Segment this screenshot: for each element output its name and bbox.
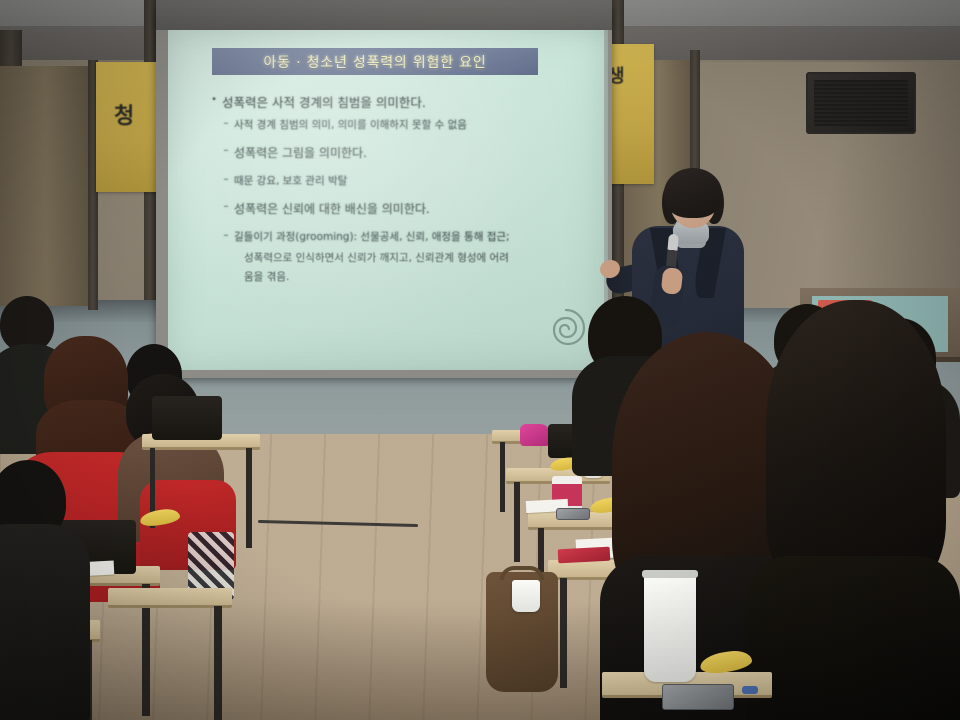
- attendee-right-foreground-hair: [766, 300, 946, 600]
- pen: [742, 686, 758, 694]
- slide-bullet: – 성폭력은 신뢰에 대한 배신을 의미한다.: [198, 200, 588, 217]
- smartphone: [662, 684, 734, 710]
- bullet-text: 사적 경계 침범의 의미, 의미를 이해하지 못할 수 없음: [234, 117, 588, 132]
- slide-bullet: – 때문 강요, 보호 관리 박탈: [198, 173, 588, 188]
- red-notebook: [558, 547, 611, 564]
- chair-back: [152, 396, 222, 440]
- bullet-text: 성폭력은 그림을 의미한다.: [234, 144, 588, 161]
- leather-bag-handle: [500, 566, 544, 580]
- projection-screen-valance: [156, 0, 612, 30]
- slide-bullet: – 사적 경계 침범의 의미, 의미를 이해하지 못할 수 없음: [198, 117, 588, 132]
- presenter-hair: [664, 168, 722, 218]
- bullet-text: 때문 강요, 보호 관리 박탈: [234, 173, 588, 188]
- attendee-right-foreground-shoulders: [746, 556, 960, 720]
- wall-speaker-panel: [806, 72, 916, 134]
- slide-bullet: – 길들이기 과정(grooming): 선물공세, 신뢰, 애정을 통해 접근…: [198, 229, 588, 244]
- bullet-marker: –: [218, 200, 234, 214]
- slide-bullet: – 성폭력은 그림을 의미한다.: [198, 144, 588, 161]
- paper-cup: [512, 580, 540, 612]
- bullet-marker: –: [218, 117, 234, 131]
- wall-panel-left: [0, 66, 92, 306]
- bullet-marker: –: [218, 173, 234, 187]
- lecture-hall-photo: 청 생 아동 · 청소년 성폭력의 위험한 요인 • 성폭력은 사적 경계의 침…: [0, 0, 960, 720]
- slide-continuation-line: 움을 겪음.: [198, 269, 588, 284]
- attendee-body: [0, 524, 90, 720]
- banner-left: 청: [96, 62, 158, 192]
- bullet-text: 성폭력은 신뢰에 대한 배신을 의미한다.: [234, 200, 588, 217]
- slide-continuation-line: 성폭력으로 인식하면서 신뢰가 깨지고, 신뢰관계 형성에 어려: [198, 250, 588, 265]
- pink-bag: [520, 424, 550, 446]
- slide-body: • 성폭력은 사적 경계의 침범을 의미한다. – 사적 경계 침범의 의미, …: [198, 92, 588, 288]
- bullet-marker: •: [206, 92, 222, 108]
- wall-trim-left: [0, 30, 22, 66]
- slide-title-bar: 아동 · 청소년 성폭력의 위험한 요인: [212, 48, 538, 75]
- bullet-text: 길들이기 과정(grooming): 선물공세, 신뢰, 애정을 통해 접근;: [234, 229, 588, 244]
- smartphone: [556, 508, 590, 520]
- paper-cup-rim: [642, 570, 698, 578]
- bullet-marker: –: [218, 229, 234, 243]
- spiral-logo-icon: [542, 304, 590, 352]
- slide-bullet: • 성폭력은 사적 경계의 침범을 의미한다.: [198, 92, 588, 111]
- projection-screen: 아동 · 청소년 성폭력의 위험한 요인 • 성폭력은 사적 경계의 침범을 의…: [168, 30, 604, 370]
- slide-title: 아동 · 청소년 성폭력의 위험한 요인: [212, 48, 538, 72]
- bullet-marker: –: [218, 144, 234, 158]
- paper-cup-tall: [644, 572, 696, 682]
- bullet-text: 성폭력은 사적 경계의 침범을 의미한다.: [222, 92, 588, 111]
